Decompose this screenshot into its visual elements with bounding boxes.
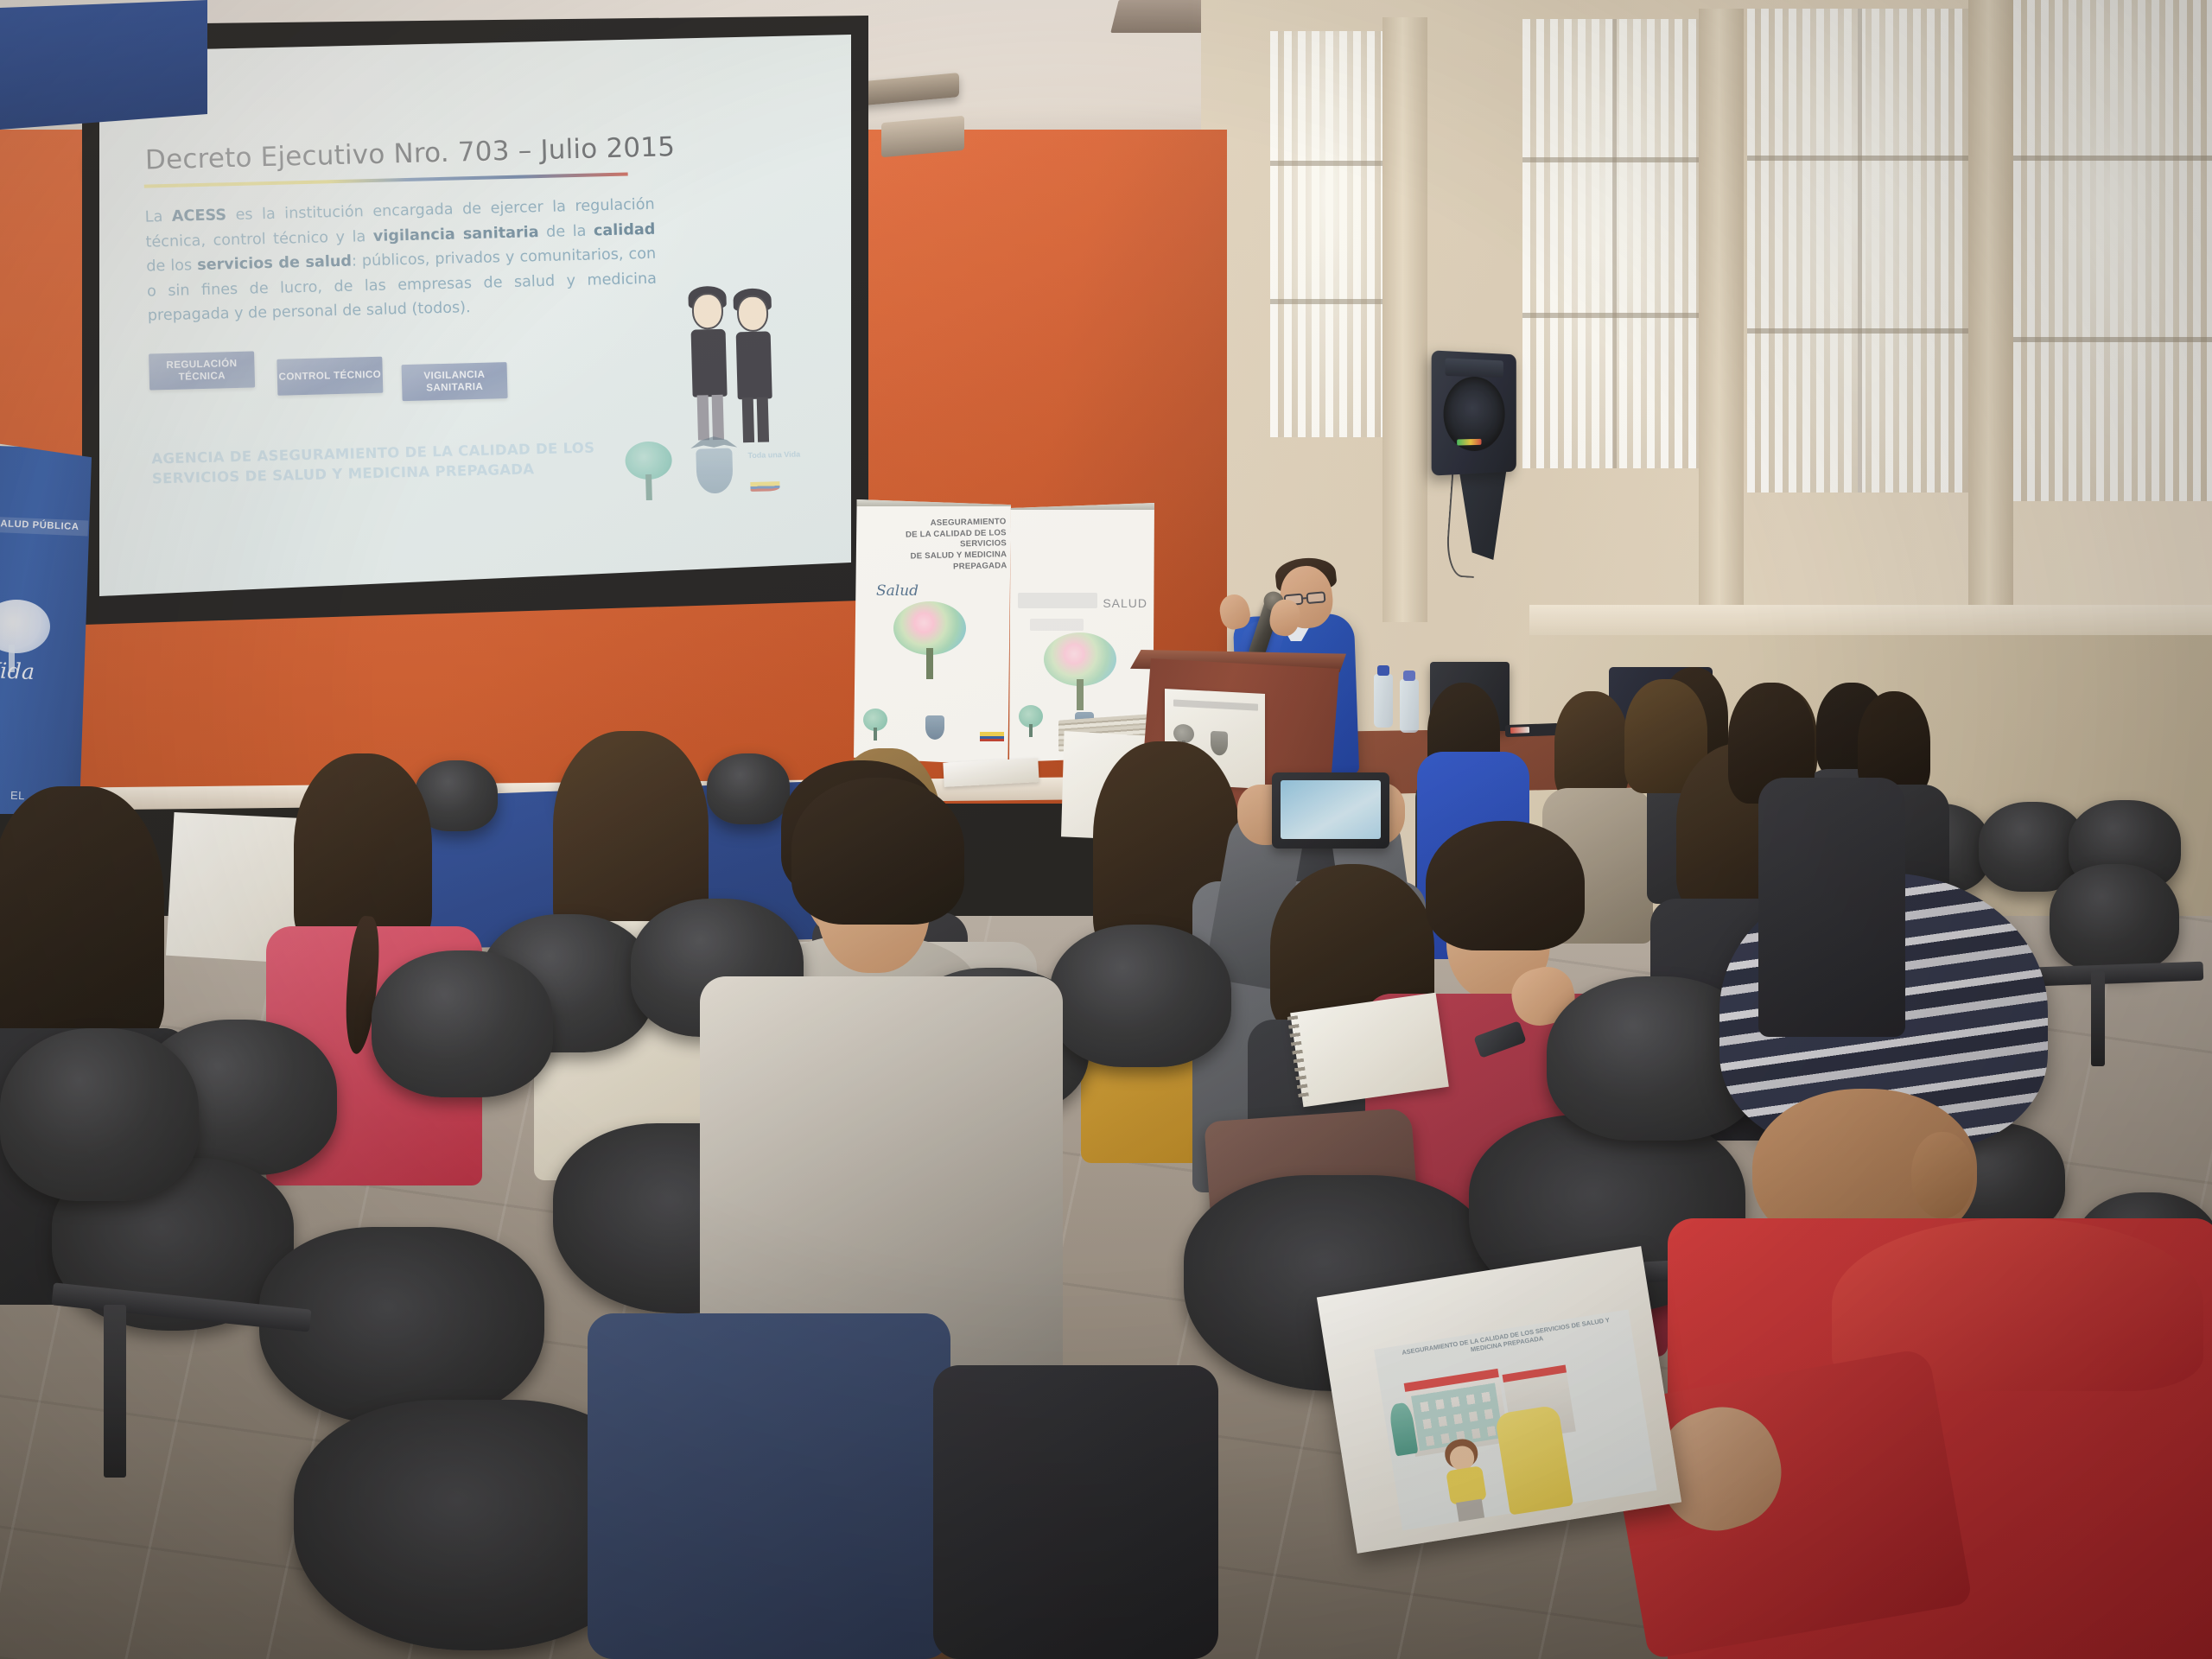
podium-sign-text-line xyxy=(1173,699,1258,710)
slide-logo-group: Toda una Vida xyxy=(621,432,813,515)
papers-on-table xyxy=(943,758,1039,787)
banner-b-faded-text-block-2 xyxy=(1030,619,1084,631)
wall-column-1 xyxy=(1382,17,1427,622)
banner-a-script-word: Salud xyxy=(876,582,918,600)
booklet-title: ASEGURAMIENTO DE LA CALIDAD DE LOS SERVI… xyxy=(1392,1314,1622,1366)
banner-blue-script-word: Vida xyxy=(0,658,35,684)
leg-dark xyxy=(933,1365,1218,1659)
projected-slide: Decreto Ejecutivo Nro. 703 – Julio 2015 … xyxy=(99,35,851,596)
tree-trunk xyxy=(645,474,652,500)
tree-trunk xyxy=(926,648,933,679)
banner-blue-footer-text: EL xyxy=(10,789,25,803)
shield-shape xyxy=(696,448,733,494)
window-mullion xyxy=(1612,19,1617,468)
water-bottle xyxy=(1400,679,1419,733)
window-daylight-glow xyxy=(1270,31,1384,437)
window-bank-1 xyxy=(1270,31,1384,437)
window-mullion xyxy=(1270,299,1384,304)
ecuador-flag-icon xyxy=(980,732,1004,741)
chair[interactable] xyxy=(2050,864,2179,973)
figure-leg xyxy=(697,395,709,440)
water-bottle xyxy=(1374,674,1393,728)
cartoon-figure-male xyxy=(731,295,777,442)
figure-head xyxy=(736,295,768,332)
lens-right xyxy=(1306,591,1325,604)
coat-of-arms-icon xyxy=(922,709,948,741)
banner-a-line2: DE LA CALIDAD DE LOS SERVICIOS xyxy=(858,528,1007,553)
slide-body-text: La ACESS es la institución encargada de … xyxy=(144,193,658,328)
banner-blue-left: SALUD PÚBLICA Vida EL xyxy=(0,442,92,814)
speaker-horn xyxy=(1446,358,1503,378)
tablet-screen xyxy=(1281,780,1381,839)
trousers xyxy=(588,1313,950,1659)
window-mullion xyxy=(2013,156,2212,161)
banner-b-label: SALUD xyxy=(1009,596,1147,610)
table-blue-draped-2 xyxy=(0,0,207,130)
tree-logo-icon xyxy=(1016,705,1046,738)
tree-crown xyxy=(1044,632,1116,686)
figure-leg xyxy=(712,395,724,440)
wall-column-2 xyxy=(1699,9,1744,613)
speaker-led-indicator xyxy=(1457,439,1481,446)
slide-cartoon-figures xyxy=(683,283,791,458)
spiral-notebook xyxy=(1290,993,1449,1108)
cartoon-figure-female xyxy=(686,293,732,441)
illustration-girl xyxy=(1433,1435,1498,1526)
chair[interactable] xyxy=(0,1028,199,1201)
tree-crown xyxy=(0,600,50,653)
banner-a-footer-logos xyxy=(861,709,1004,741)
banner-a-text: ASEGURAMIENTO DE LA CALIDAD DE LOS SERVI… xyxy=(857,517,1007,575)
window-mullion xyxy=(1270,161,1384,166)
slide-title-rule xyxy=(144,172,628,188)
figure-head xyxy=(691,293,723,330)
ecuador-coat-of-arms-icon xyxy=(689,435,741,500)
tree-crown xyxy=(893,601,966,655)
window-bank-3 xyxy=(1747,9,1970,493)
window-daylight-glow xyxy=(2013,0,2212,501)
chair-leg xyxy=(2091,971,2105,1066)
ear xyxy=(1911,1132,1974,1218)
hair xyxy=(1554,691,1629,804)
banner-stand-aseguramiento: ASEGURAMIENTO DE LA CALIDAD DE LOS SERVI… xyxy=(854,499,1011,766)
hair xyxy=(0,786,164,1046)
wall-column-3 xyxy=(1968,0,2013,605)
hair xyxy=(791,778,964,925)
chair[interactable] xyxy=(707,753,790,824)
presentation-remote xyxy=(1505,723,1559,737)
slide-pill-vigilancia: VIGILANCIA SANITARIA xyxy=(402,362,508,401)
banner-a-line3: DE SALUD Y MEDICINA PREPAGADA xyxy=(858,550,1007,575)
slide-footer-agency-name: AGENCIA DE ASEGURAMIENTO DE LA CALIDAD D… xyxy=(151,437,619,489)
pa-speaker-icon xyxy=(1432,350,1516,475)
slide-title: Decreto Ejecutivo Nro. 703 – Julio 2015 xyxy=(145,131,676,176)
window-mullion xyxy=(1858,9,1862,493)
slide-pill-control: CONTROL TÉCNICO xyxy=(276,357,383,396)
tree-logo-icon xyxy=(621,441,677,503)
chair-leg xyxy=(104,1305,126,1478)
hair xyxy=(1426,821,1585,950)
window-bank-4 xyxy=(2013,0,2212,501)
banner-a-tree-logo-icon xyxy=(885,601,975,695)
booklet-cover-art: ASEGURAMIENTO DE LA CALIDAD DE LOS SERVI… xyxy=(1374,1309,1656,1530)
slide-logo-caption: Toda una Vida xyxy=(747,449,811,461)
figure-body xyxy=(736,331,772,399)
window-mullion xyxy=(2013,337,2212,342)
figure-body xyxy=(691,329,728,397)
conference-room-photo: Decreto Ejecutivo Nro. 703 – Julio 2015 … xyxy=(0,0,2212,1659)
chair[interactable] xyxy=(1050,925,1231,1067)
tree-logo-icon xyxy=(861,709,890,741)
ecuador-flag-icon xyxy=(750,481,779,492)
window-bank-2 xyxy=(1522,19,1702,468)
slide-pill-row: REGULACIÓN TÉCNICA CONTROL TÉCNICO VIGIL… xyxy=(149,334,686,422)
coat-of-arms-icon xyxy=(1208,726,1230,761)
tablet-device[interactable] xyxy=(1272,772,1389,849)
slide-pill-regulacion: REGULACIÓN TÉCNICA xyxy=(149,351,255,390)
chair[interactable] xyxy=(372,950,553,1097)
booklet: ASEGURAMIENTO DE LA CALIDAD DE LOS SERVI… xyxy=(1317,1246,1681,1554)
torso xyxy=(1758,778,1905,1037)
screen-roller-end-cap xyxy=(881,116,964,157)
